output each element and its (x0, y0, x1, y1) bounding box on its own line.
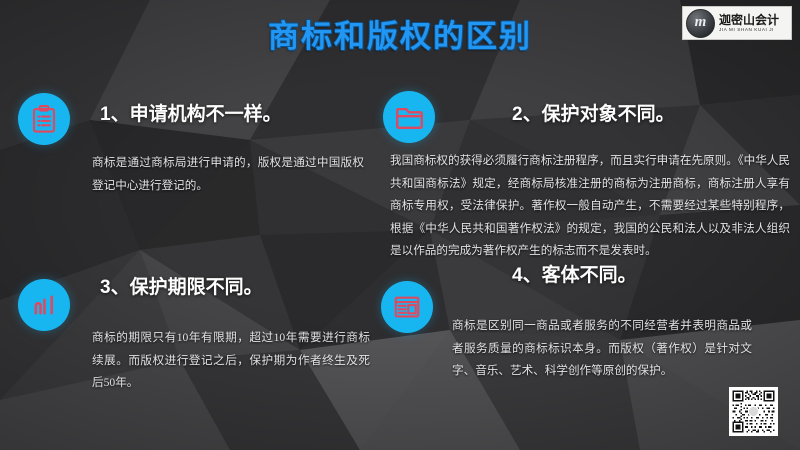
qr-code-image (731, 389, 776, 434)
qr-code[interactable] (729, 387, 778, 436)
newspaper-icon (381, 281, 433, 333)
section-4-heading: 4、客体不同。 (512, 260, 637, 287)
logo-text-group: 迦密山会计 JIA MI SHAN KUAI JI (719, 14, 779, 33)
title-bar: 商标和版权的区别 (0, 0, 800, 62)
logo-name-cn: 迦密山会计 (719, 14, 779, 26)
section-3-body: 商标的期限只有10年有限期，超过10年需要进行商标续展。而版权进行登记之后，保护… (92, 327, 370, 395)
poster-canvas: 商标和版权的区别 迦密山会计 JIA MI SHAN KUAI JI 1、申请机… (0, 0, 800, 450)
bar-chart-icon (18, 279, 70, 331)
logo-globe-icon (686, 9, 715, 38)
section-3-heading: 3、保护期限不同。 (100, 272, 263, 299)
brand-logo: 迦密山会计 JIA MI SHAN KUAI JI (682, 6, 792, 40)
folder-icon (383, 91, 435, 143)
logo-name-en: JIA MI SHAN KUAI JI (719, 28, 779, 33)
section-1-heading: 1、申请机构不一样。 (100, 99, 282, 126)
section-2-body: 我国商标权的获得必须履行商标注册程序，而且实行申请在先原则。《中华人民共和国商标… (390, 150, 790, 263)
page-title: 商标和版权的区别 (0, 11, 800, 56)
section-1-body: 商标是通过商标局进行申请的，版权是通过中国版权登记中心进行登记的。 (92, 152, 364, 197)
section-4-body: 商标是区别同一商品或者服务的不同经营者并表明商品或者服务质量的商标标识本身。而版… (452, 315, 752, 383)
section-2-heading: 2、保护对象不同。 (512, 99, 675, 126)
clipboard-list-icon (18, 93, 70, 145)
